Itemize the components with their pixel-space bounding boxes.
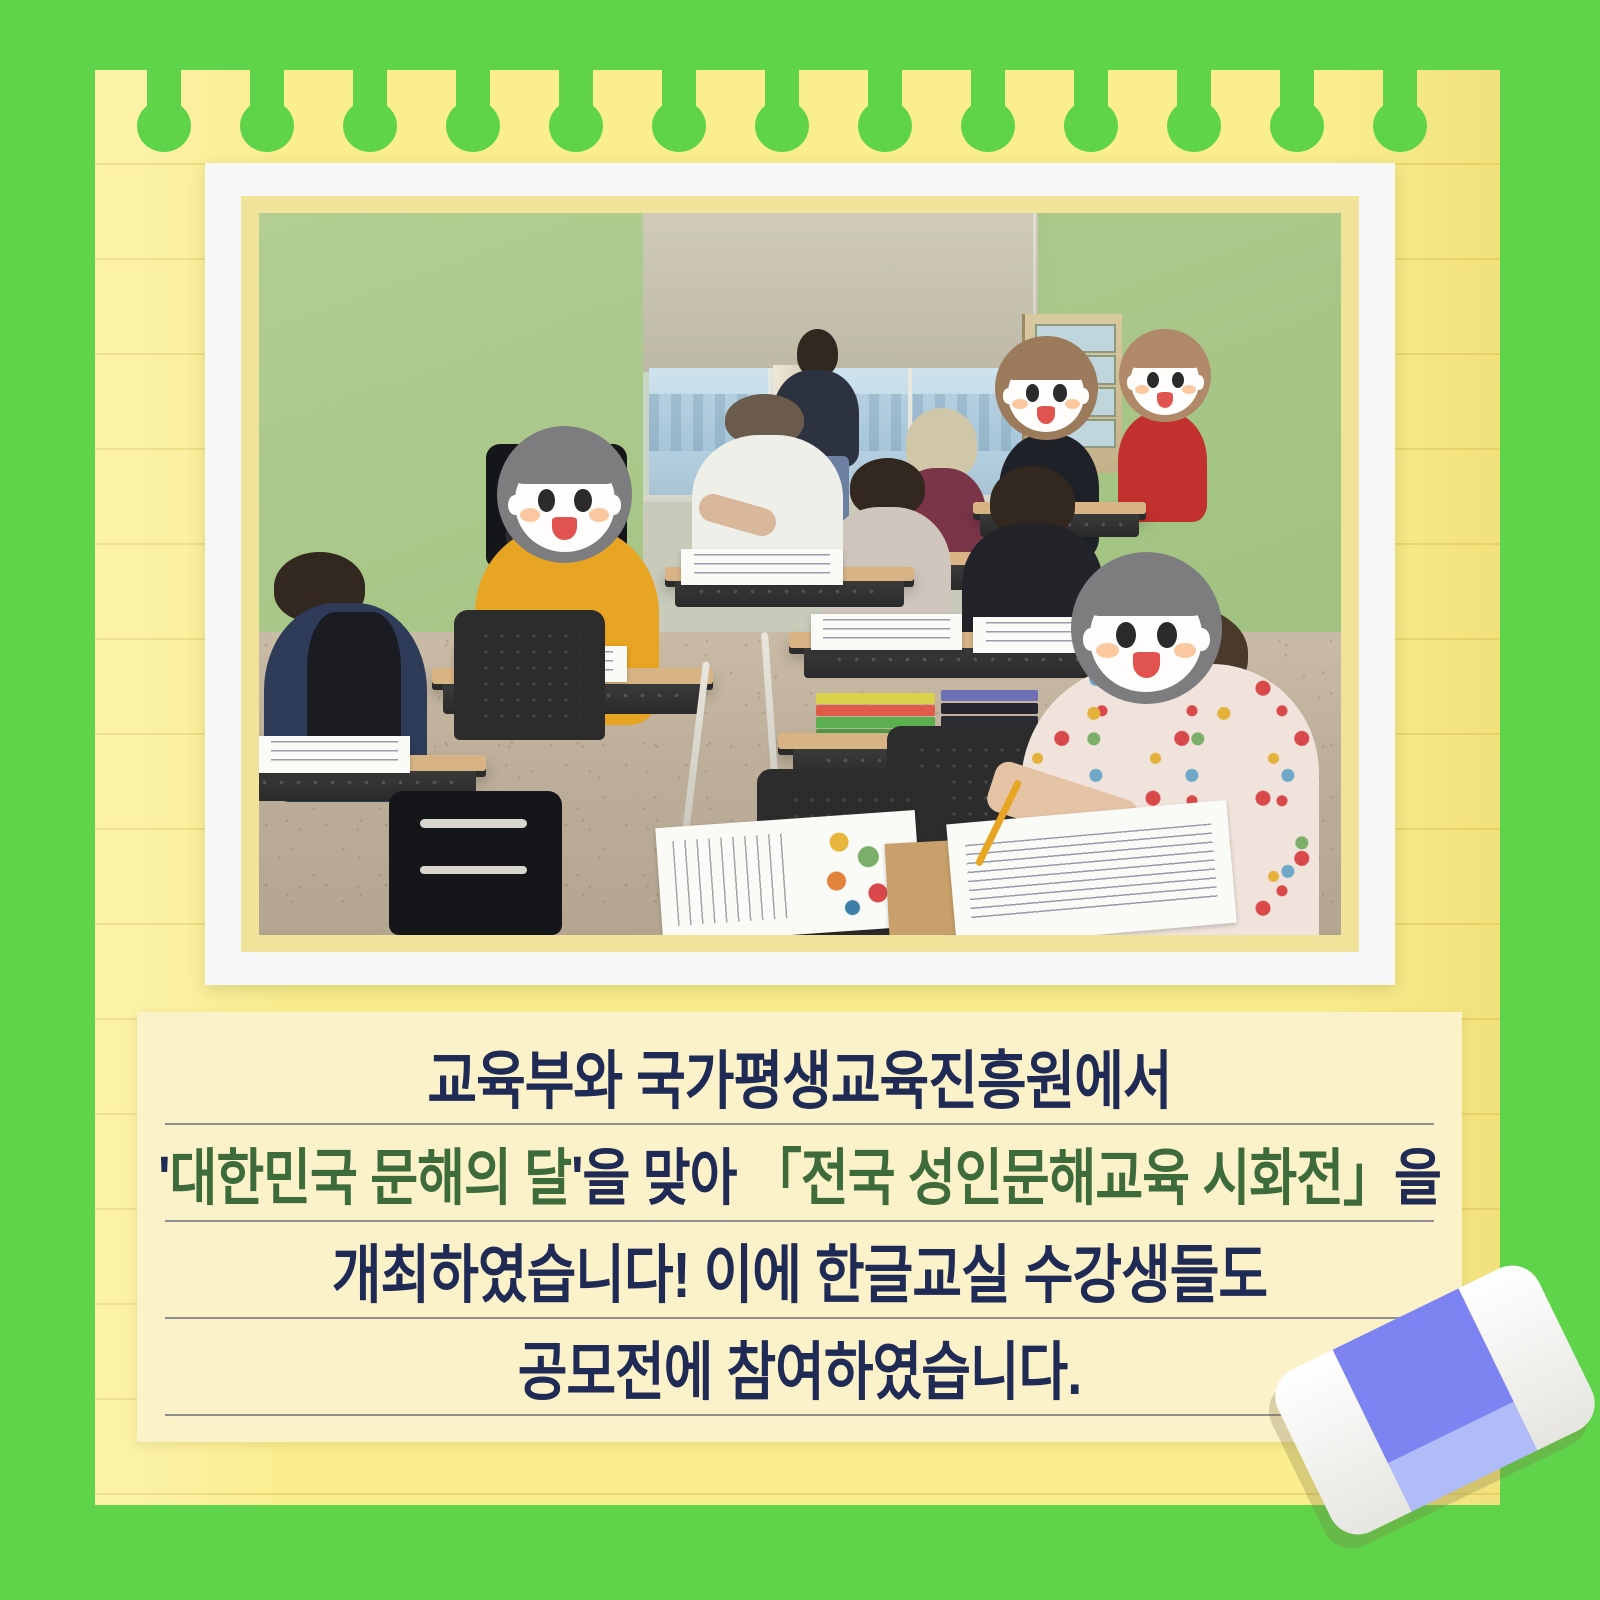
- binding-hole: [765, 68, 799, 130]
- poster-card: 교육부와 국가평생교육진흥원에서'대한민국 문해의 달'을 맞아 「전국 성인문…: [0, 0, 1600, 1600]
- cartoon-face-sticker: [995, 336, 1098, 441]
- backpack-floor: [389, 791, 562, 935]
- binding-hole: [662, 68, 696, 130]
- notepad-binding: [95, 70, 1500, 150]
- caption-line: 개최하였습니다! 이에 한글교실 수강생들도: [165, 1222, 1434, 1319]
- photo-frame: [205, 163, 1395, 985]
- pencil-icon: [0, 0, 33, 348]
- classroom-photo: [259, 213, 1341, 935]
- worksheet: [681, 549, 843, 585]
- binding-hole: [1280, 68, 1314, 130]
- binding-hole: [1074, 68, 1108, 130]
- caption-line: '대한민국 문해의 달'을 맞아 「전국 성인문해교육 시화전」을: [165, 1125, 1434, 1222]
- cartoon-face-sticker: [1071, 552, 1222, 704]
- binding-hole: [971, 68, 1005, 130]
- binding-hole: [868, 68, 902, 130]
- worksheet: [811, 614, 962, 650]
- worksheet: [259, 736, 410, 772]
- caption-line: 공모전에 참여하였습니다.: [165, 1319, 1434, 1416]
- caption-line: 교육부와 국가평생교육진흥원에서: [165, 1028, 1434, 1125]
- binding-hole: [559, 68, 593, 130]
- cartoon-face-sticker: [497, 426, 632, 563]
- caption-card: 교육부와 국가평생교육진흥원에서'대한민국 문해의 달'을 맞아 「전국 성인문…: [137, 1012, 1462, 1442]
- binding-hole: [147, 68, 181, 130]
- caption-text: 공모전에 참여하였습니다.: [518, 1320, 1082, 1413]
- binding-hole: [250, 68, 284, 130]
- caption-text: '대한민국 문해의 달'을 맞아 「전국 성인문해교육 시화전」을: [158, 1128, 1441, 1217]
- binding-hole: [456, 68, 490, 130]
- binding-hole: [353, 68, 387, 130]
- binding-hole: [1177, 68, 1211, 130]
- chair: [454, 610, 605, 740]
- writing-sheet: [947, 800, 1238, 935]
- caption-text: 개최하였습니다! 이에 한글교실 수강생들도: [332, 1223, 1267, 1316]
- photo-mat: [241, 196, 1359, 952]
- binding-hole: [1383, 68, 1417, 130]
- caption-text: 교육부와 국가평생교육진흥원에서: [427, 1029, 1171, 1122]
- teacher-white-shirt: [692, 394, 843, 567]
- poem-worksheet: [656, 811, 923, 935]
- cartoon-face-sticker: [1119, 329, 1211, 423]
